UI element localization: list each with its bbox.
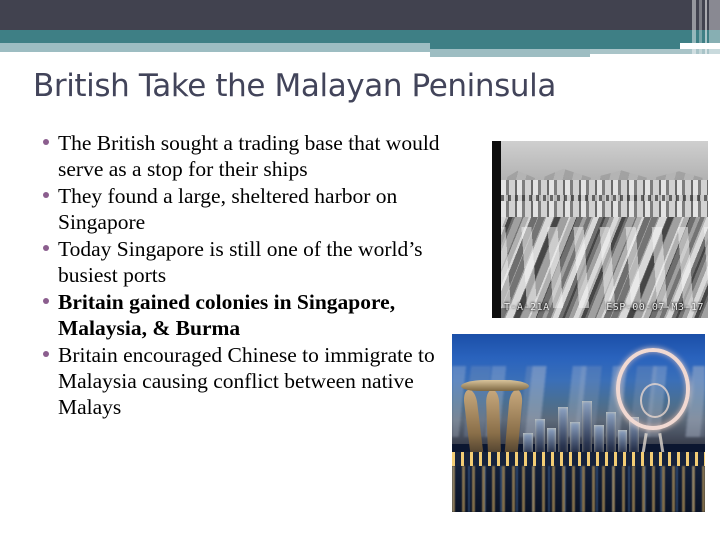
header-band-dark — [0, 0, 720, 30]
bullet-dot-icon — [36, 183, 58, 198]
bullet-text: Today Singapore is still one of the worl… — [58, 236, 476, 288]
bullet-dot-icon — [36, 289, 58, 304]
header-vertical-accent-2 — [699, 0, 702, 64]
singapore-flyer-ferris-wheel — [616, 348, 689, 451]
list-item: Today Singapore is still one of the worl… — [36, 236, 476, 288]
skyline-water-reflection — [452, 466, 705, 512]
image-singapore-harbor-historical: T-A-21A ESP-00-07-M3-17 — [492, 141, 708, 318]
bullet-text: Britain encouraged Chinese to immigrate … — [58, 342, 476, 420]
harbor-photo-caption: T-A-21A ESP-00-07-M3-17 — [504, 302, 704, 313]
bullet-text: The British sought a trading base that w… — [58, 130, 476, 182]
list-item: Britain gained colonies in Singapore, Ma… — [36, 289, 476, 341]
list-item: They found a large, sheltered harbor on … — [36, 183, 476, 235]
harbor-film-edge — [492, 141, 501, 318]
list-item: The British sought a trading base that w… — [36, 130, 476, 182]
image-singapore-skyline-night — [452, 334, 705, 512]
harbor-caption-left: T-A-21A — [504, 302, 550, 313]
mbs-skypark-deck — [461, 380, 529, 391]
harbor-caption-right: ESP-00-07-M3-17 — [606, 302, 704, 313]
header-vertical-accent-3 — [705, 0, 707, 64]
header-vertical-accent-4 — [709, 0, 720, 64]
list-item: Britain encouraged Chinese to immigrate … — [36, 342, 476, 420]
bullet-dot-icon — [36, 342, 58, 357]
header-band-light-left — [0, 43, 430, 52]
skyline-waterfront-lights — [452, 452, 705, 466]
bullet-text: They found a large, sheltered harbor on … — [58, 183, 476, 235]
bullet-list: The British sought a trading base that w… — [36, 130, 476, 421]
slide-canvas: British Take the Malayan Peninsula The B… — [0, 0, 720, 540]
bullet-dot-icon — [36, 236, 58, 251]
slide-title: British Take the Malayan Peninsula — [33, 68, 693, 104]
header-band-light-mid — [430, 49, 590, 57]
slide-header-decoration — [0, 0, 720, 64]
marina-bay-sands — [465, 377, 526, 462]
header-vertical-accent-1 — [692, 0, 696, 64]
bullet-text: Britain gained colonies in Singapore, Ma… — [58, 289, 476, 341]
header-band-teal — [0, 30, 720, 43]
bullet-dot-icon — [36, 130, 58, 145]
harbor-shophouses — [501, 180, 708, 219]
